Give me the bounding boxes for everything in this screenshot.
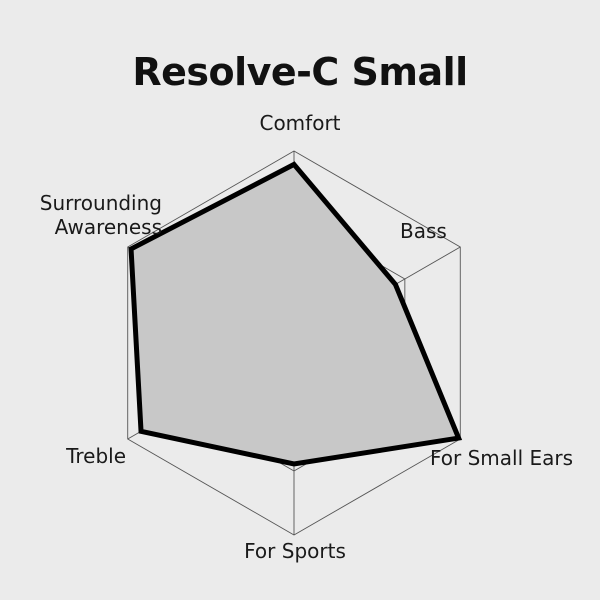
axis-label-for-sports: For Sports bbox=[150, 540, 440, 564]
radar-plot-area bbox=[0, 0, 600, 600]
axis-label-bass: Bass bbox=[400, 220, 560, 244]
axis-label-comfort: Comfort bbox=[0, 112, 600, 136]
axis-label-surrounding-awareness: SurroundingAwareness bbox=[0, 192, 162, 239]
radar-series-polygon bbox=[131, 164, 459, 464]
axis-label-treble: Treble bbox=[0, 445, 126, 469]
axis-label-surrounding-awareness-line1: Surrounding bbox=[40, 191, 162, 215]
axis-label-surrounding-awareness-line2: Awareness bbox=[55, 215, 162, 239]
axis-label-for-small-ears: For Small Ears bbox=[430, 447, 600, 471]
radar-chart: Resolve-C Small Comfort Bass For Small E… bbox=[0, 0, 600, 600]
